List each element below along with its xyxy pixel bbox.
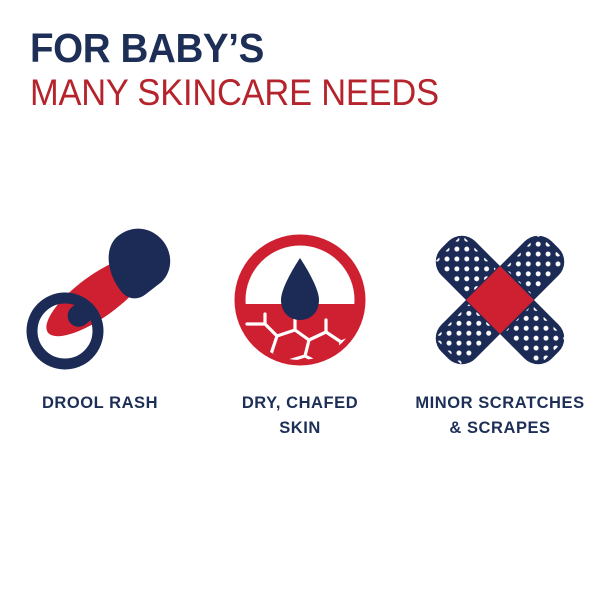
pacifier-icon bbox=[20, 228, 180, 373]
benefit-item-drool-rash: DROOL RASH bbox=[0, 228, 200, 416]
headline-line-primary: FOR BABY’S bbox=[30, 26, 538, 70]
crossed-bandages-icon bbox=[423, 228, 578, 373]
benefit-label-drool-rash: DROOL RASH bbox=[5, 391, 195, 416]
page-title: FOR BABY’S MANY SKINCARE NEEDS bbox=[30, 26, 570, 113]
poster-canvas: FOR BABY’S MANY SKINCARE NEEDS bbox=[0, 0, 600, 600]
benefit-icon-row: DROOL RASH bbox=[0, 228, 600, 441]
cracked-skin-droplet-icon bbox=[225, 228, 375, 373]
headline-line-secondary: MANY SKINCARE NEEDS bbox=[30, 72, 532, 113]
benefit-label-dry-chafed-skin: DRY, CHAFED SKIN bbox=[193, 391, 408, 441]
benefit-label-minor-scratches: MINOR SCRATCHES & SCRAPES bbox=[388, 391, 600, 441]
benefit-item-minor-scratches: MINOR SCRATCHES & SCRAPES bbox=[400, 228, 600, 441]
benefit-item-dry-chafed-skin: DRY, CHAFED SKIN bbox=[200, 228, 400, 441]
